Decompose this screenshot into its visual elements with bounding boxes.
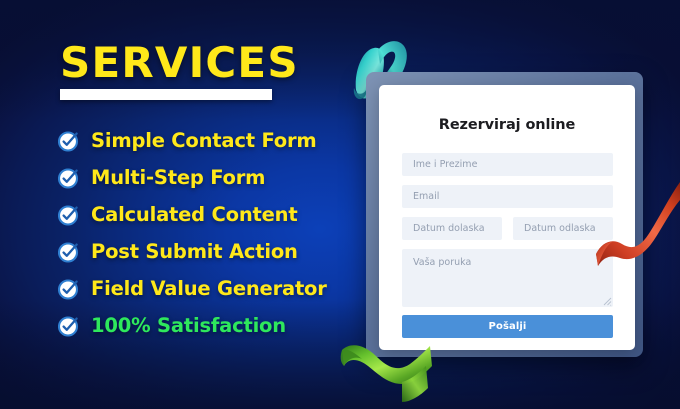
list-item-label: Field Value Generator: [91, 277, 327, 300]
promo-banner: SERVICES Simple Contact Form: [0, 0, 680, 409]
check-circle-icon: [58, 315, 80, 337]
check-circle-icon: [58, 204, 80, 226]
message-textarea[interactable]: [402, 249, 613, 307]
submit-button[interactable]: Pošalji: [402, 315, 613, 338]
check-circle-icon: [58, 167, 80, 189]
arrival-date-input[interactable]: [402, 217, 502, 240]
list-item-label: Post Submit Action: [91, 240, 298, 263]
name-input[interactable]: [402, 153, 613, 176]
list-item: Multi-Step Form: [58, 159, 348, 196]
list-item-label: Multi-Step Form: [91, 166, 265, 189]
list-item: Post Submit Action: [58, 233, 348, 270]
services-list: Simple Contact Form Multi-Step Form: [58, 122, 348, 344]
list-item-label: Calculated Content: [91, 203, 297, 226]
booking-form-card: Rezerviraj online Pošalji: [379, 85, 635, 350]
check-circle-icon: [58, 278, 80, 300]
check-circle-icon: [58, 241, 80, 263]
list-item: 100% Satisfaction: [58, 307, 348, 344]
title-underline-rule: [60, 89, 272, 100]
card-title: Rezerviraj online: [379, 117, 635, 133]
services-panel: SERVICES Simple Contact Form: [0, 0, 350, 409]
check-circle-icon: [58, 130, 80, 152]
email-input[interactable]: [402, 185, 613, 208]
list-item: Calculated Content: [58, 196, 348, 233]
list-item-label: 100% Satisfaction: [91, 314, 286, 337]
page-title: SERVICES: [60, 42, 299, 84]
list-item-label: Simple Contact Form: [91, 129, 317, 152]
list-item: Simple Contact Form: [58, 122, 348, 159]
departure-date-input[interactable]: [513, 217, 613, 240]
list-item: Field Value Generator: [58, 270, 348, 307]
